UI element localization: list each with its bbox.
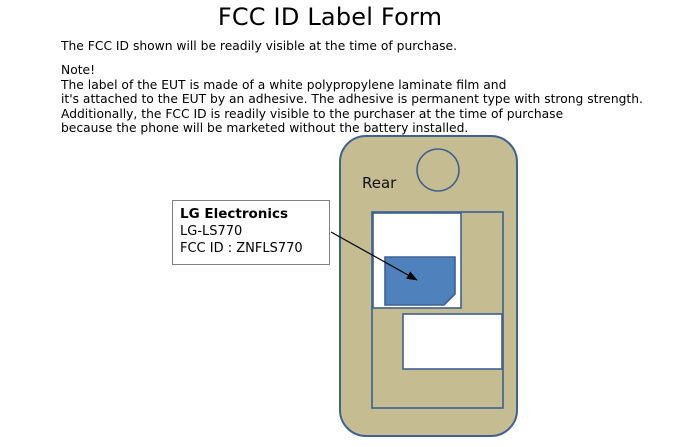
callout-brand: LG Electronics	[180, 206, 329, 223]
callout-fcc-id: FCC ID : ZNFLS770	[180, 240, 329, 257]
fcc-label-sticker-icon	[385, 257, 455, 305]
fcc-label-callout-box: LG Electronics LG-LS770 FCC ID : ZNFLS77…	[172, 200, 330, 265]
lower-white-bay	[403, 314, 502, 369]
phone-rear-diagram	[0, 0, 680, 447]
camera-lens-icon	[417, 149, 459, 191]
rear-view-caption: Rear	[362, 173, 396, 193]
page-canvas: FCC ID Label Form The FCC ID shown will …	[0, 0, 680, 447]
callout-model: LG-LS770	[180, 223, 329, 240]
